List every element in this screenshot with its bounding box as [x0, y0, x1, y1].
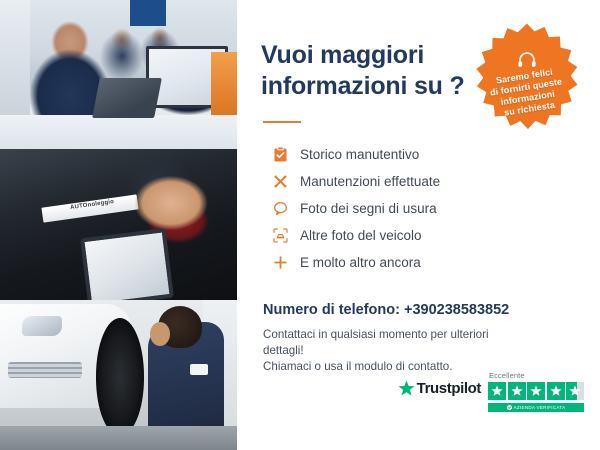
- photo3-headlight: [22, 316, 62, 336]
- trustpilot-logo: Trustpilot: [398, 380, 481, 397]
- support-promise-badge: Saremo felici di fornirti queste informa…: [468, 21, 586, 139]
- headline-line-2: informazioni su ?: [261, 72, 465, 100]
- photo2-hand-lower: [88, 267, 160, 300]
- title-underline-rule: [263, 121, 301, 123]
- rating-star-4: [547, 382, 565, 400]
- verified-label: AZIENDA VERIFICATA: [514, 405, 566, 410]
- feature-label: E molto altro ancora: [300, 255, 421, 270]
- trustpilot-rating-label: Eccellente: [489, 371, 525, 380]
- feature-item-molto-altro: E molto altro ancora: [269, 249, 580, 276]
- photo-call-centre-agents-with-headsets: [0, 0, 237, 149]
- photo2-hand-upper: [128, 171, 214, 235]
- rating-star-3: [527, 382, 545, 400]
- car-scan-icon: [269, 228, 291, 243]
- clipboard-check-icon: [269, 147, 291, 162]
- feature-label: Altre foto del veicolo: [300, 228, 422, 243]
- promo-banner: AUTOnoleggio Vuoi maggiori informazioni …: [0, 0, 600, 450]
- wrench-cross-icon: [269, 174, 291, 189]
- photo-mechanic-inspecting-wheel-on-lift: [0, 300, 237, 450]
- photo1-wall-banner: [130, 0, 166, 26]
- plus-icon: [269, 255, 291, 270]
- photo3-tyre: [96, 318, 144, 436]
- verified-check-icon: [507, 405, 512, 410]
- trustpilot-star-icon: [398, 380, 415, 397]
- headset-icon: [517, 51, 537, 69]
- feature-item-manutenzioni-effettuate: Manutenzioni effettuate: [269, 168, 580, 195]
- photo-vehicle-paint-thickness-inspection: AUTOnoleggio: [0, 149, 237, 300]
- trustpilot-brand-name: Trustpilot: [417, 380, 481, 397]
- photo1-desk: [0, 115, 237, 149]
- phone-number-line[interactable]: Numero di telefono: +390238583852: [263, 302, 580, 318]
- trustpilot-verified-badge: AZIENDA VERIFICATA: [488, 403, 584, 412]
- rating-star-1: [488, 382, 506, 400]
- photo3-mechanic-face: [150, 322, 170, 346]
- feature-label: Manutenzioni effettuate: [300, 174, 440, 189]
- contact-subtext: Contattaci in qualsiasi momento per ulte…: [263, 327, 518, 375]
- photo3-lift-platform: [0, 426, 237, 450]
- feature-label: Foto dei segni di usura: [300, 201, 437, 216]
- headline-line-1: Vuoi maggiori: [261, 41, 424, 69]
- page-title: Vuoi maggiori informazioni su ?: [261, 40, 476, 102]
- rating-star-5-partial: [566, 382, 584, 400]
- feature-item-altre-foto-veicolo: Altre foto del veicolo: [269, 222, 580, 249]
- phone-number[interactable]: +390238583852: [404, 302, 509, 318]
- photo-column: AUTOnoleggio: [0, 0, 237, 450]
- photo3-uniform-patch: [190, 364, 208, 375]
- trustpilot-widget[interactable]: Trustpilot Eccellente: [398, 371, 584, 412]
- photo3-grille: [8, 362, 82, 378]
- contact-subtext-line-1: Contattaci in qualsiasi momento per ulte…: [263, 327, 518, 359]
- trustpilot-rating-block: Eccellente: [488, 371, 584, 412]
- rating-star-2: [508, 382, 526, 400]
- feature-list: Storico manutentivo Manutenzioni effettu…: [269, 141, 580, 276]
- feature-label: Storico manutentivo: [300, 147, 419, 162]
- phone-label: Numero di telefono:: [263, 302, 400, 318]
- feature-item-foto-segni-usura: Foto dei segni di usura: [269, 195, 580, 222]
- trustpilot-stars: [488, 382, 584, 400]
- speech-bubble-icon: [269, 201, 291, 216]
- feature-item-storico-manutentivo: Storico manutentivo: [269, 141, 580, 168]
- content-panel: Vuoi maggiori informazioni su ? Saremo f…: [237, 0, 600, 450]
- photo2-strip-label: AUTOnoleggio: [70, 199, 115, 211]
